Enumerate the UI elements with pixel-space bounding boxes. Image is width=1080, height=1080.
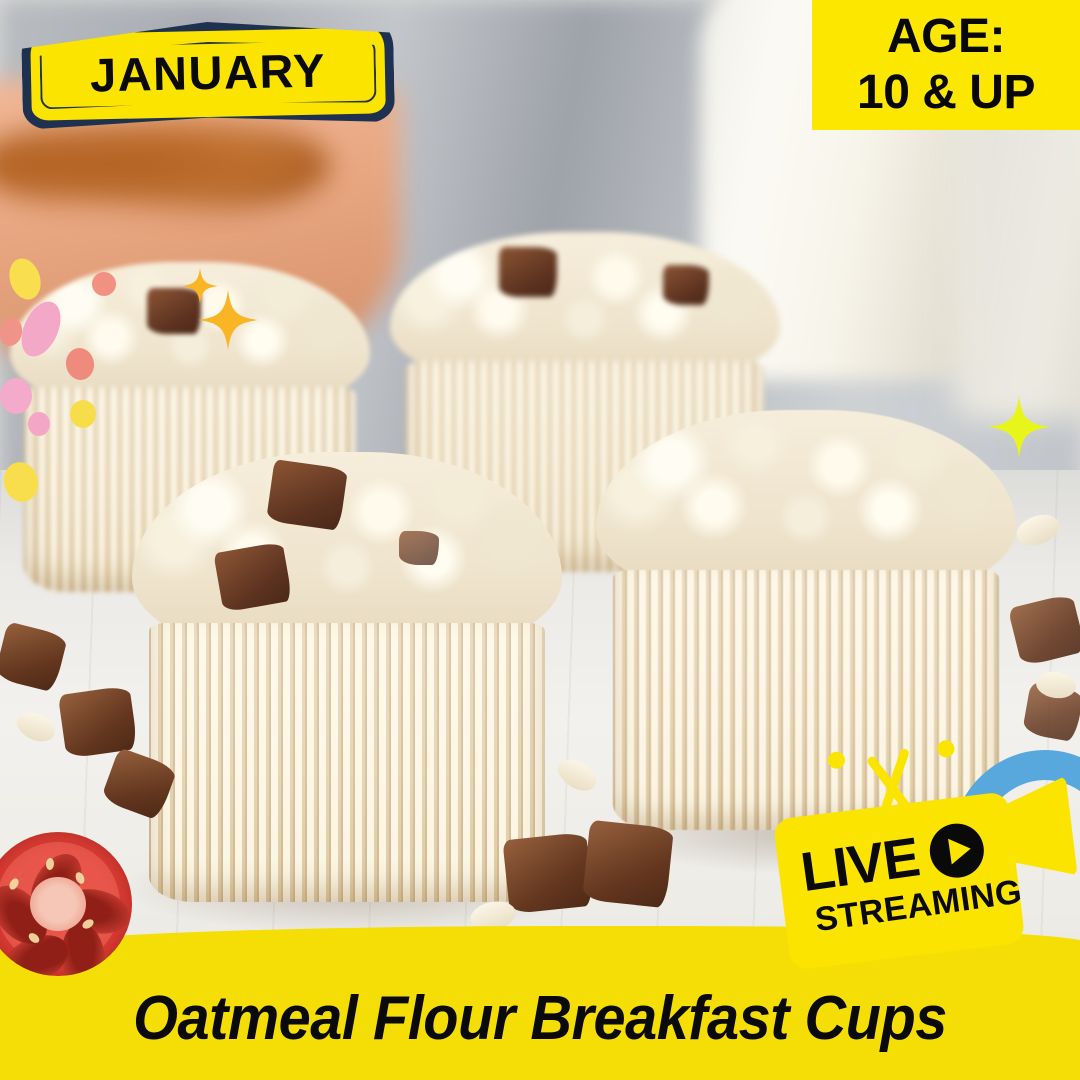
muffin-oat-top	[390, 232, 780, 382]
chocolate-chunk	[266, 459, 348, 531]
tomato-core	[30, 877, 86, 932]
chocolate-chunk	[58, 685, 138, 758]
play-triangle	[948, 836, 972, 865]
month-badge[interactable]: JANUARY	[21, 18, 395, 130]
page-title: Oatmeal Flour Breakfast Cups	[38, 983, 1042, 1054]
chocolate-chunk	[502, 832, 593, 914]
confetti-dot-pink-2	[0, 378, 32, 414]
chocolate-chunk	[399, 531, 439, 565]
tv-antenna-knob-right-icon	[936, 739, 955, 758]
confetti-dot-pink-3	[28, 412, 50, 436]
play-icon[interactable]	[927, 820, 988, 881]
confetti-dot-yellow-2	[70, 400, 96, 428]
muffin-oat-top	[596, 410, 1016, 595]
age-badge-line1: AGE:	[887, 13, 1005, 61]
chocolate-chunk	[499, 247, 557, 297]
live-streaming-badge[interactable]: LIVE STREAMING	[760, 729, 1080, 980]
muffin-front-left	[132, 452, 562, 902]
confetti-dot-salmon-1	[92, 272, 116, 296]
age-badge[interactable]: AGE: 10 & UP	[812, 0, 1080, 130]
sparkle-icon-amber-large	[198, 290, 258, 350]
month-badge-label: JANUARY	[21, 18, 395, 130]
chocolate-chunk	[663, 265, 709, 305]
age-badge-line2: 10 & UP	[857, 69, 1035, 117]
muffin-paper-liner	[149, 623, 545, 902]
recipe-poster: JANUARY AGE: 10 & UP Oatmeal Flour Break…	[0, 0, 1080, 1080]
muffin-oat-top	[132, 452, 562, 650]
sparkle-icon-lime	[988, 396, 1050, 458]
chocolate-chunk	[582, 820, 674, 908]
chocolate-chunk	[213, 541, 292, 612]
